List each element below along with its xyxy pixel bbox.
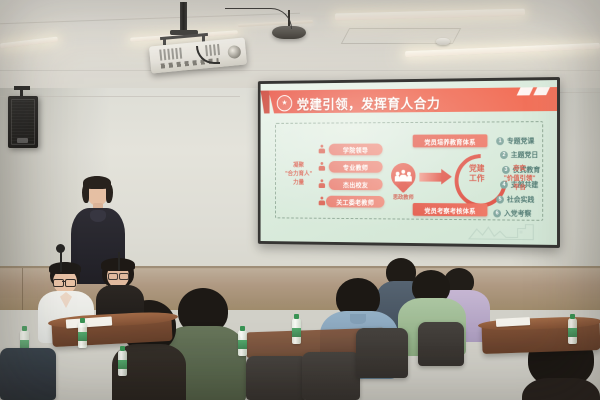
right-arrow-icon [419,173,442,182]
right-arrow-head [441,169,452,185]
list-number: 6 [493,209,501,217]
skyline-watermark [467,222,545,241]
water-bottle[interactable] [292,318,301,344]
list-number: 2 [500,151,508,159]
list-item-6[interactable]: 6 入党考察 [493,208,531,218]
list-label: 专题党课 [507,136,534,146]
people-pin-icon [391,163,416,192]
projector-mount-pole [180,2,187,32]
pin-caption: 思政教师 [387,193,419,201]
person-icon [319,162,325,171]
list-label: 入党考察 [504,209,531,219]
ceiling-wire [225,8,292,29]
right-group-label: 夯实 "价值引领" 平台 [498,164,541,192]
water-bottle[interactable] [238,330,247,356]
office-chair[interactable] [356,328,408,378]
list-item-2[interactable]: 2 主题党日 [500,150,538,160]
source-pill-1[interactable]: 学院领导 [329,144,383,156]
source-pill-2[interactable]: 专业教师 [329,161,383,173]
microphone-stem [118,252,120,270]
banner-accent [261,91,270,114]
water-bottle[interactable] [568,318,577,344]
meeting-room-photo: ★ 党建引领，发挥育人合力 凝聚 "合力育人" 力量 学院领导 专业教师 杰出校… [0,0,600,400]
slide-content: ★ 党建引领，发挥育人合力 凝聚 "合力育人" 力量 学院领导 专业教师 杰出校… [261,80,557,245]
ring-label: 党建 工作 [455,164,499,184]
person-icon [319,197,325,206]
left-group-label: 凝聚 "合力育人" 力量 [280,162,316,188]
office-chair[interactable] [0,348,56,400]
list-number: 1 [496,137,504,145]
party-emblem-icon: ★ [277,95,292,111]
smoke-detector-icon [436,38,450,45]
office-chair[interactable] [246,356,308,400]
list-label: 社会实践 [507,195,534,205]
tag-education-system[interactable]: 党员培养教育体系 [413,134,488,147]
ceiling-seam [0,70,600,71]
projector-mount-arm [163,37,166,45]
slide-title: 党建引领，发挥育人合力 [297,92,441,113]
office-chair[interactable] [418,322,464,366]
water-bottle[interactable] [78,322,87,348]
list-item-1[interactable]: 1 专题党课 [496,136,534,146]
projection-screen[interactable]: ★ 党建引领，发挥育人合力 凝聚 "合力育人" 力量 学院领导 专业教师 杰出校… [258,77,560,248]
microphone-stem [60,250,62,272]
office-chair[interactable] [302,352,360,400]
person-icon [319,145,325,154]
list-label: 主题党日 [511,150,538,160]
projector-lens [227,45,241,59]
tag-assessment-system[interactable]: 党员考察考核体系 [413,203,488,216]
wall-seam [560,92,600,93]
list-number: 5 [496,196,504,204]
water-bottle[interactable] [118,350,127,376]
source-pill-3[interactable]: 杰出校友 [329,178,383,190]
microphone[interactable] [56,244,65,253]
list-item-5[interactable]: 5 社会实践 [496,195,534,205]
source-pill-4[interactable]: 关工委老教师 [326,196,384,208]
person-icon [319,179,325,188]
wall-speaker [8,96,38,148]
